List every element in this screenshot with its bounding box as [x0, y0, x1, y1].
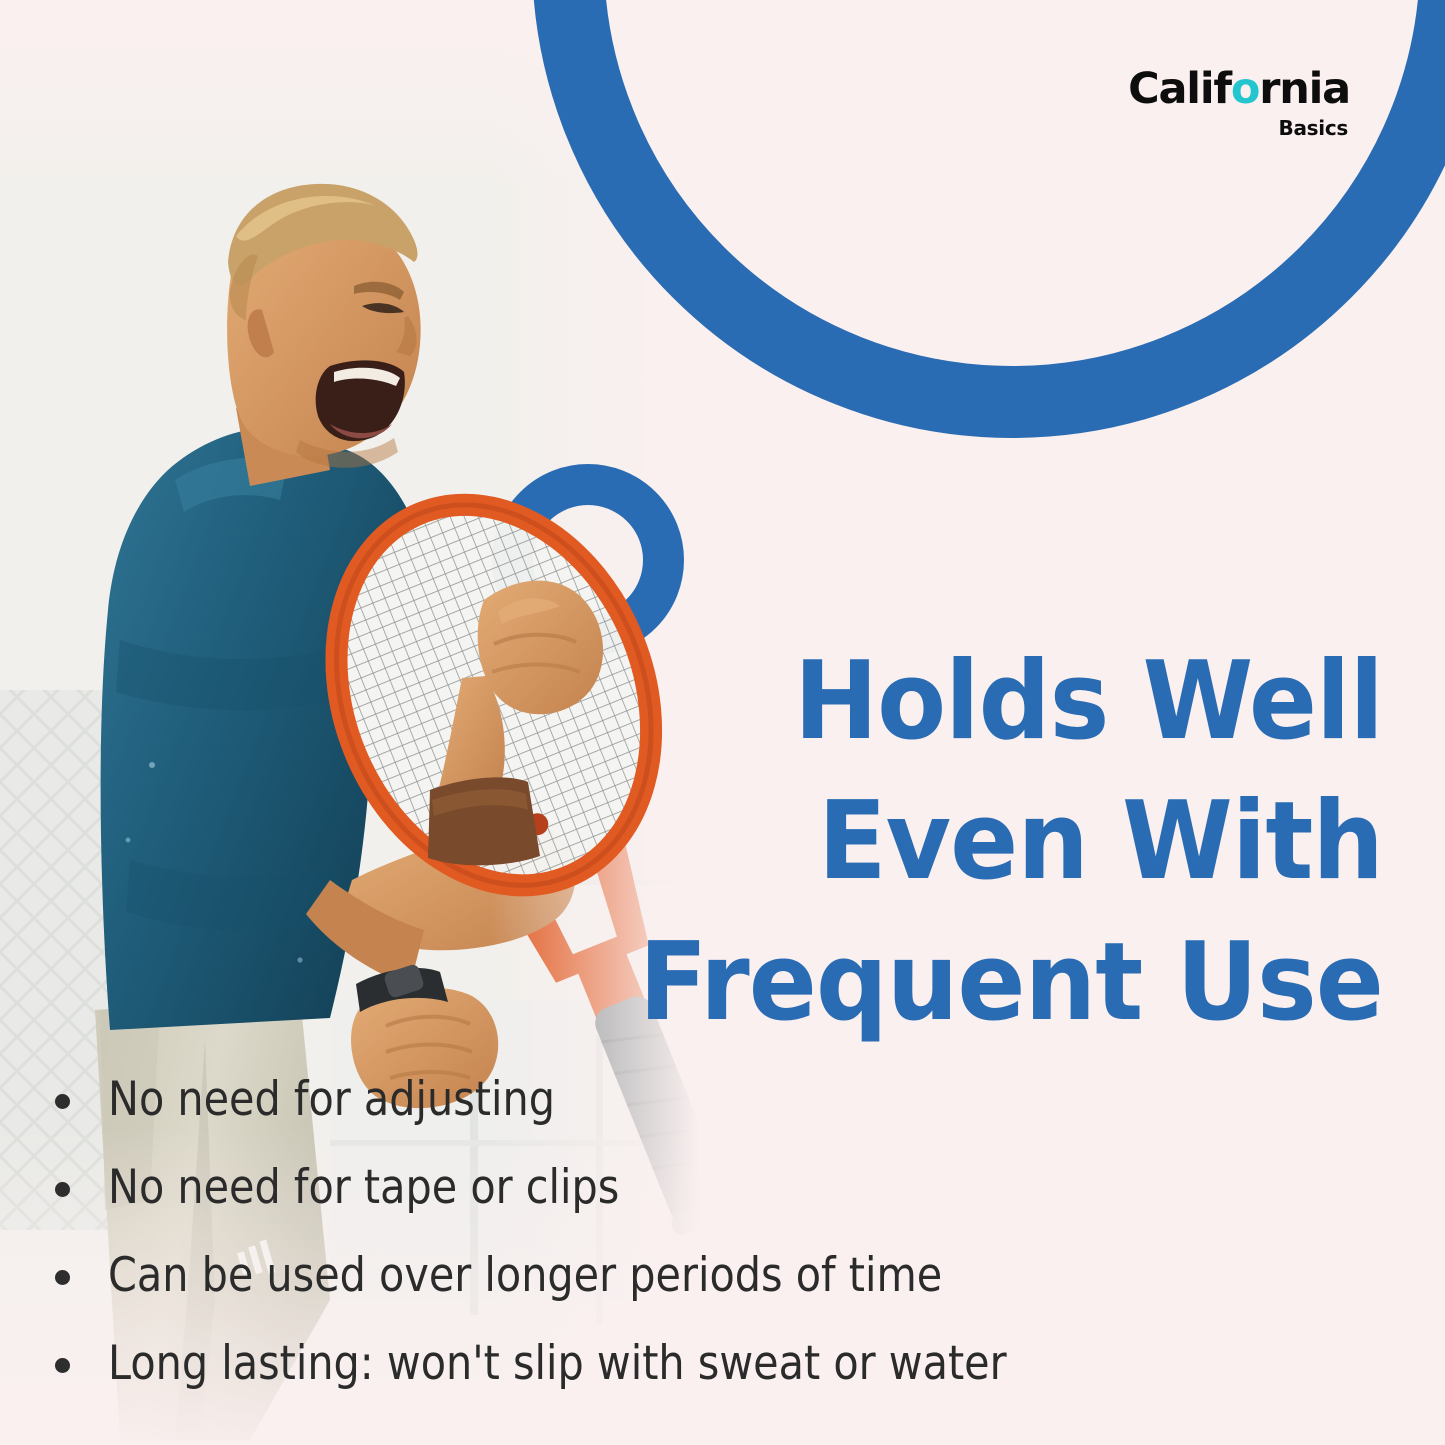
list-item: Long lasting: won't slip with sweat or w…	[55, 1338, 1395, 1426]
list-item-label: Can be used over longer periods of time	[108, 1250, 942, 1302]
headline-line-1: Holds Well	[602, 632, 1383, 772]
list-item-label: Long lasting: won't slip with sweat or w…	[108, 1338, 1007, 1390]
headline-line-3: Frequent Use	[602, 913, 1383, 1053]
brand-logo: California Basics	[1128, 68, 1350, 138]
feature-bullet-list: No need for adjusting No need for tape o…	[55, 1074, 1395, 1426]
brand-logo-accent-letter: o	[1231, 64, 1259, 114]
list-item-label: No need for tape or clips	[108, 1162, 619, 1214]
list-item-label: No need for adjusting	[108, 1074, 555, 1126]
brand-logo-name-part2: rnia	[1259, 64, 1350, 114]
headline-line-2: Even With	[602, 772, 1383, 912]
promo-image-canvas: California Basics Holds Well Even With F…	[0, 0, 1445, 1445]
bullet-dot-icon	[55, 1094, 70, 1109]
list-item: Can be used over longer periods of time	[55, 1250, 1395, 1338]
list-item: No need for tape or clips	[55, 1162, 1395, 1250]
bullet-dot-icon	[55, 1182, 70, 1197]
list-item: No need for adjusting	[55, 1074, 1395, 1162]
bullet-dot-icon	[55, 1270, 70, 1285]
headline: Holds Well Even With Frequent Use	[543, 632, 1383, 1053]
brand-logo-name-part1: Calif	[1128, 64, 1231, 114]
bullet-dot-icon	[55, 1358, 70, 1373]
brand-logo-subtitle: Basics	[1128, 118, 1348, 138]
brand-logo-name: California	[1128, 68, 1350, 111]
